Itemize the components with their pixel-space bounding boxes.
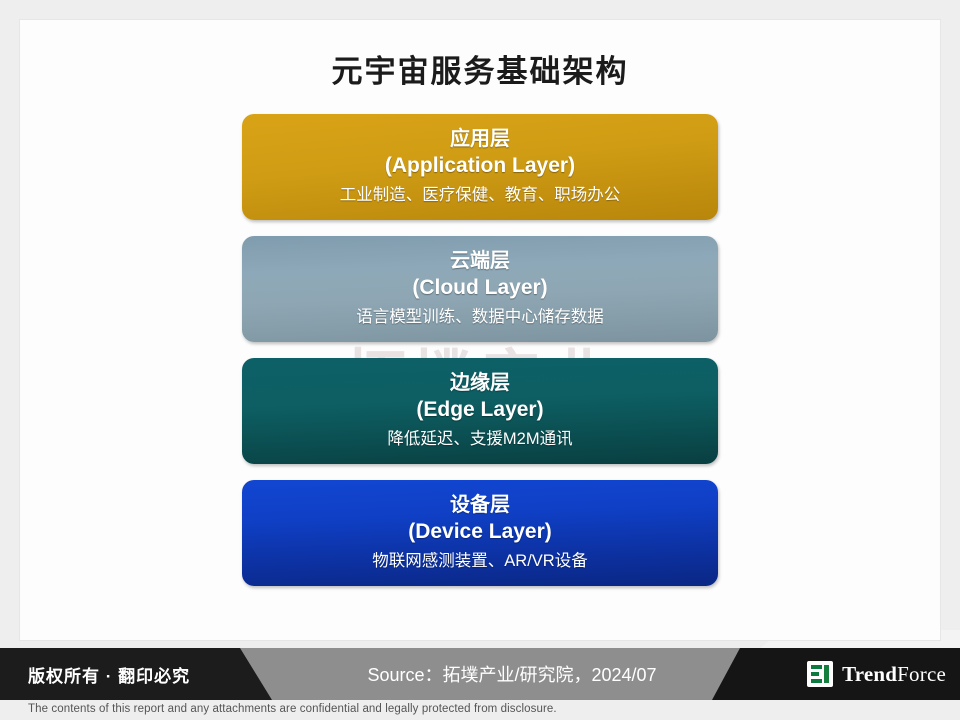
cloud-layer-label-cn: 云端层 bbox=[450, 249, 510, 273]
layer-stack-diagram: 应用层 (Application Layer) 工业制造、医疗保健、教育、职场办… bbox=[242, 114, 718, 602]
slide-canvas: 拓墣产业 TOPOLOGY RESEARCH INSTITUTE 元宇宙服务基础… bbox=[20, 20, 940, 640]
brand-name-suffix: Force bbox=[897, 662, 946, 686]
device-layer-label-en: (Device Layer) bbox=[408, 519, 552, 545]
brand-area: TrendForce bbox=[712, 648, 960, 700]
footer-bar: 版权所有 · 翻印必究 Source：拓墣产业/研究院，2024/07 Tren… bbox=[0, 648, 960, 700]
page-title: 元宇宙服务基础架构 bbox=[20, 46, 940, 91]
application-layer-label-en: (Application Layer) bbox=[385, 153, 575, 179]
application-layer-description: 工业制造、医疗保健、教育、职场办公 bbox=[340, 185, 621, 206]
diagram-block-application-layer: 应用层 (Application Layer) 工业制造、医疗保健、教育、职场办… bbox=[242, 114, 718, 220]
diagram-block-device-layer: 设备层 (Device Layer) 物联网感测装置、AR/VR设备 bbox=[242, 480, 718, 586]
device-layer-description: 物联网感测装置、AR/VR设备 bbox=[372, 551, 587, 572]
disclaimer-text: The contents of this report and any atta… bbox=[28, 703, 557, 715]
edge-layer-label-en: (Edge Layer) bbox=[416, 397, 543, 423]
copyright-banner: 版权所有 · 翻印必究 bbox=[0, 648, 272, 700]
application-layer-label-cn: 应用层 bbox=[450, 127, 510, 151]
diagram-block-cloud-layer: 云端层 (Cloud Layer) 语言模型训练、数据中心储存数据 bbox=[242, 236, 718, 342]
edge-layer-description: 降低延迟、支援M2M通讯 bbox=[387, 429, 572, 450]
source-note: Source：拓墣产业/研究院，2024/07 bbox=[272, 648, 752, 700]
edge-layer-label-cn: 边缘层 bbox=[450, 371, 510, 395]
diagram-block-edge-layer: 边缘层 (Edge Layer) 降低延迟、支援M2M通讯 bbox=[242, 358, 718, 464]
brand-name: TrendForce bbox=[842, 662, 946, 687]
cloud-layer-description: 语言模型训练、数据中心储存数据 bbox=[356, 307, 604, 328]
trendforce-mark-icon bbox=[807, 661, 833, 687]
trendforce-logo: TrendForce bbox=[807, 661, 946, 687]
brand-name-prefix: Trend bbox=[842, 662, 897, 686]
cloud-layer-label-en: (Cloud Layer) bbox=[412, 275, 547, 301]
slide-page: 拓墣产业 TOPOLOGY RESEARCH INSTITUTE 元宇宙服务基础… bbox=[0, 0, 960, 720]
device-layer-label-cn: 设备层 bbox=[450, 493, 510, 517]
